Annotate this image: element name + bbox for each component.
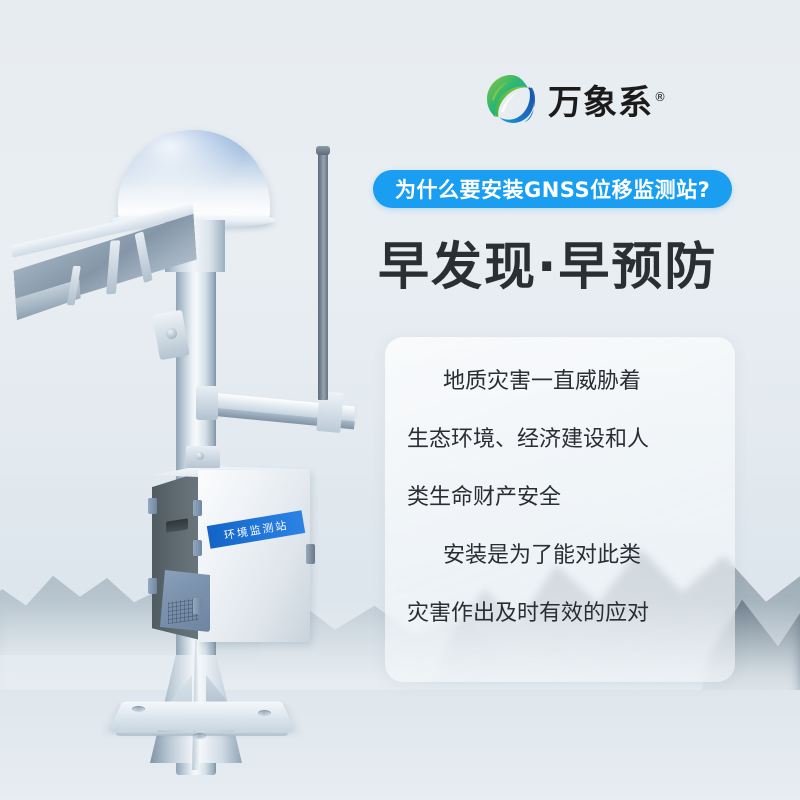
question-banner-pill: 为什么要安装GNSS位移监测站? bbox=[373, 170, 732, 208]
body-copy-card: 地质灾害一直威胁着 生态环境、经济建设和人 类生命财产安全 安装是为了能对此类 … bbox=[385, 337, 735, 682]
body-copy-line: 生态环境、经济建设和人 bbox=[407, 429, 713, 451]
anchor-bolt-hole bbox=[132, 706, 145, 712]
gnss-antenna-dome bbox=[118, 130, 270, 222]
question-banner-text: 为什么要安装GNSS位移监测站? bbox=[395, 174, 710, 204]
promo-poster: 环境监测站 bbox=[0, 0, 800, 800]
cross-arm-clamp bbox=[196, 386, 218, 420]
body-copy-line: 类生命财产安全 bbox=[407, 487, 713, 509]
enclosure-latch bbox=[306, 544, 315, 564]
solar-panel-mount-bolt bbox=[166, 328, 177, 339]
antenna-rod bbox=[318, 150, 328, 400]
globe-swirl-logo-icon bbox=[484, 72, 538, 126]
body-copy-line: 灾害作出及时有效的应对 bbox=[407, 603, 713, 625]
page-title: 早发现·早预防 bbox=[378, 225, 717, 299]
brand-name-text: 万象系 bbox=[548, 83, 653, 123]
enclosure-mount-bolt bbox=[196, 452, 204, 460]
registered-trademark-icon: ® bbox=[654, 90, 667, 104]
enclosure-hinge bbox=[148, 498, 157, 514]
anchor-bolt-hole bbox=[193, 733, 206, 739]
brand-name: 万象系® bbox=[548, 75, 667, 124]
anchor-bolt-hole bbox=[258, 710, 271, 716]
enclosure-hinge bbox=[193, 540, 202, 556]
body-copy-lines: 地质灾害一直威胁着 生态环境、经济建设和人 类生命财产安全 安装是为了能对此类 … bbox=[385, 337, 735, 625]
body-copy-line: 地质灾害一直威胁着 bbox=[407, 371, 713, 393]
enclosure-front-panel bbox=[198, 470, 310, 642]
solar-panel bbox=[12, 204, 199, 325]
brand-lockup: 万象系® bbox=[484, 68, 744, 130]
enclosure-hinge bbox=[193, 500, 202, 516]
antenna-rod-cap bbox=[316, 146, 330, 155]
enclosure-hinge bbox=[148, 578, 157, 594]
enclosure-hinge bbox=[193, 598, 202, 614]
monitoring-station-illustration: 环境监测站 bbox=[0, 100, 380, 760]
body-copy-line: 安装是为了能对此类 bbox=[407, 545, 713, 567]
